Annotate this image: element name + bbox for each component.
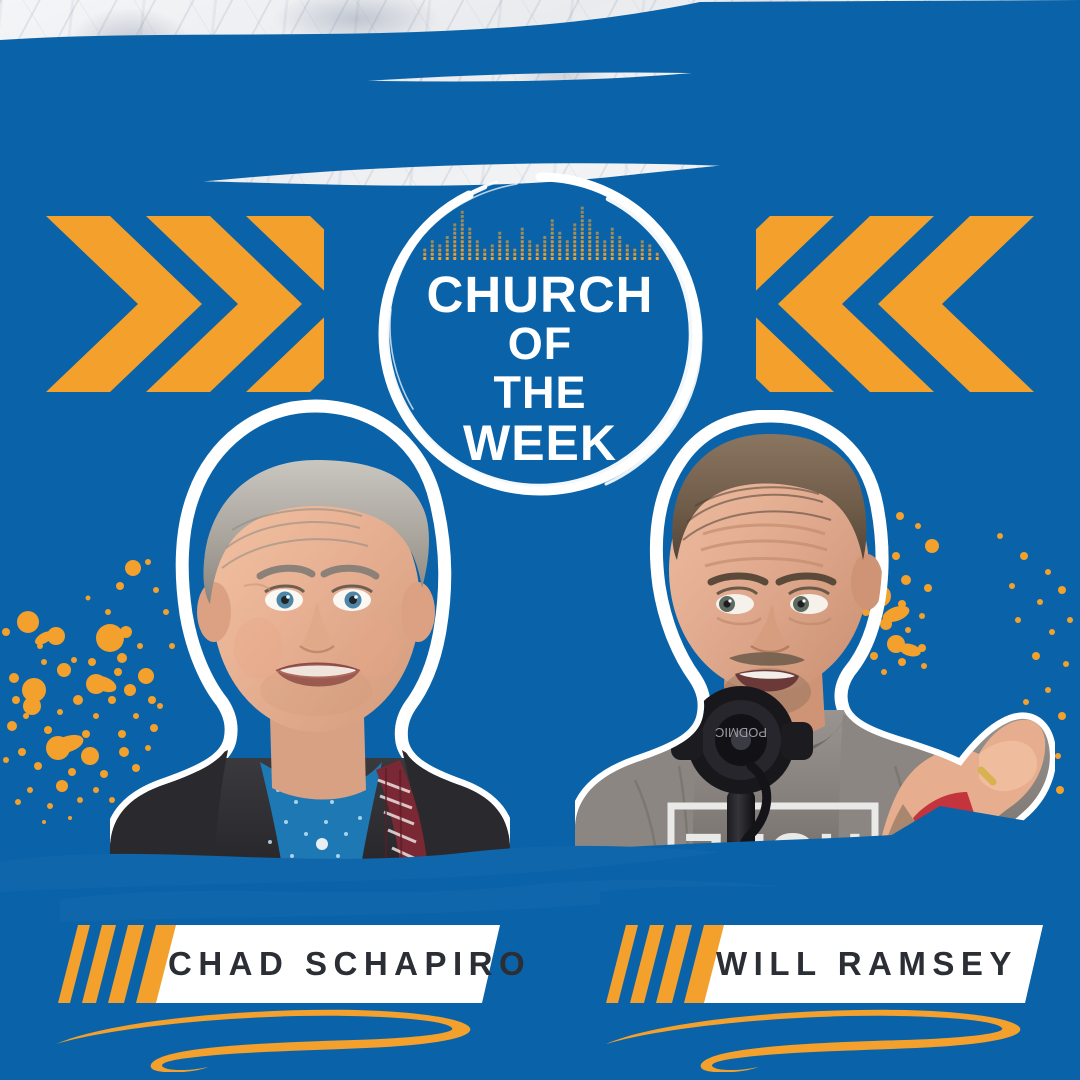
- chevron-group-right: [756, 214, 1038, 399]
- badge-line-2: OF: [369, 320, 711, 369]
- chevron-group-left: [42, 214, 324, 399]
- church-of-the-week-badge: CHURCH OF THE WEEK: [369, 163, 711, 505]
- swoosh-underline-left: [36, 1000, 506, 1072]
- chevron-right-icon: [42, 214, 324, 394]
- name-plate-right: WILL RAMSEY: [588, 925, 1043, 1003]
- promo-graphic-canvas: HOPE: [0, 0, 1080, 1080]
- badge-line-1: CHURCH: [369, 271, 711, 320]
- name-plate-left: CHAD SCHAPIRO: [40, 925, 500, 1003]
- guest-name-right: WILL RAMSEY: [716, 925, 1018, 1003]
- hope-shirt-text: HOPE: [682, 820, 863, 892]
- audio-waveform-icon: [421, 201, 661, 263]
- guest-name-left: CHAD SCHAPIRO: [168, 925, 531, 1003]
- swoosh-underline-right: [586, 1000, 1056, 1072]
- badge-line-3: THE: [369, 369, 711, 418]
- badge-title-block: CHURCH OF THE WEEK: [369, 271, 711, 470]
- chevron-left-icon: [756, 214, 1038, 394]
- badge-line-4: WEEK: [369, 417, 711, 470]
- svg-text:PODMIC: PODMIC: [715, 725, 767, 740]
